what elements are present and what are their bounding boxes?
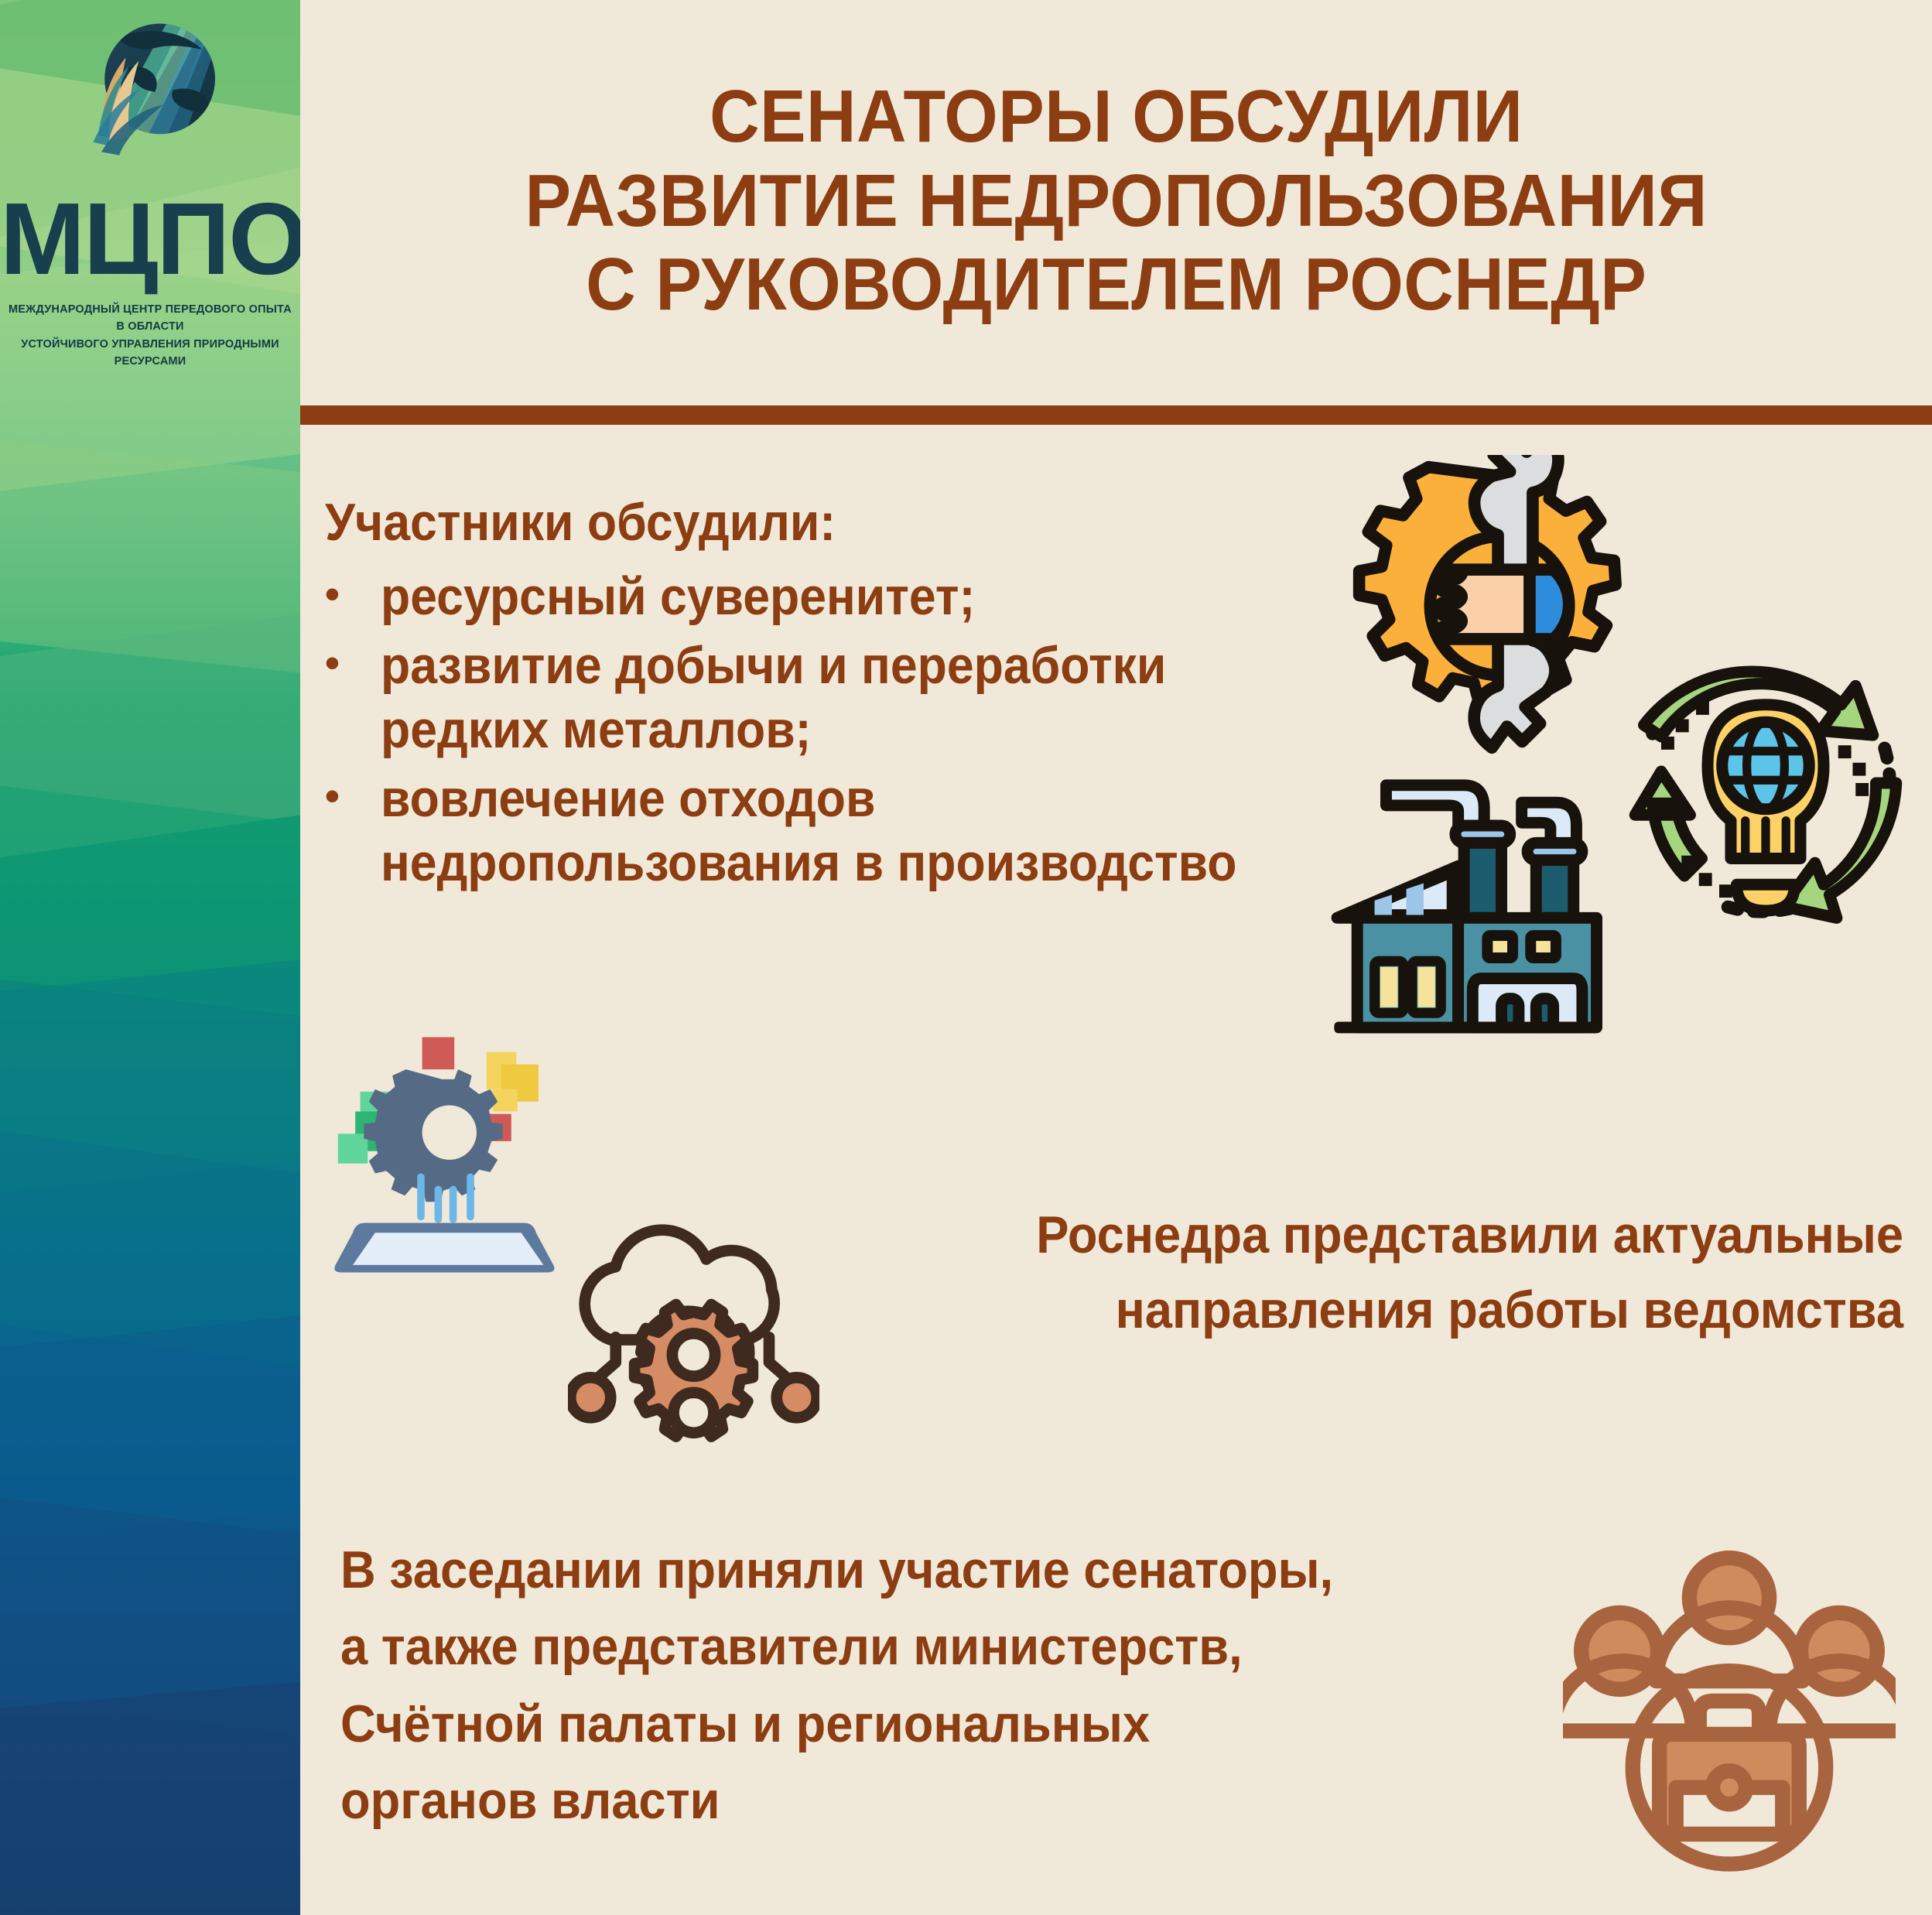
rosnedra-statement-line1: Роснедра представили актуальные (809, 1198, 1903, 1273)
list-item: • ресурсный суверенитет; (325, 565, 1339, 629)
sidebar-band (0, 1677, 300, 1915)
brand-subtitle-line1: МЕЖДУНАРОДНЫЙ ЦЕНТР ПЕРЕДОВОГО ОПЫТА В О… (6, 301, 294, 336)
brand-acronym: МЦПО (0, 188, 300, 290)
list-item: • вовлечение отходов недропользования в … (325, 767, 1339, 895)
bullet-dot-icon: • (325, 767, 381, 826)
participants-statement: В заседании приняли участие сенаторы, а … (340, 1532, 1463, 1839)
factory-icon (1317, 768, 1634, 1042)
data-gear-tablet-icon (328, 1023, 576, 1274)
list-item: • развитие добычи и переработки редких м… (325, 634, 1339, 762)
participants-line4: органов власти (340, 1763, 1463, 1839)
recycle-lightbulb-globe-icon (1619, 644, 1913, 934)
cloud-gear-network-icon (568, 1187, 819, 1442)
brand-logo: МЦПО МЕЖДУНАРОДНЫЙ ЦЕНТР ПЕРЕДОВОГО ОПЫТ… (0, 15, 300, 371)
brand-sidebar: МЦПО МЕЖДУНАРОДНЫЙ ЦЕНТР ПЕРЕДОВОГО ОПЫТ… (0, 0, 300, 1915)
participants-line1: В заседании приняли участие сенаторы, (340, 1532, 1463, 1609)
page-title-line3: С РУКОВОДИТЕЛЕМ РОСНЕДР (525, 243, 1707, 327)
brand-subtitle-line2: УСТОЙЧИВОГО УПРАВЛЕНИЯ ПРИРОДНЫМИ РЕСУРС… (6, 336, 294, 371)
page-title-line2: РАЗВИТИЕ НЕДРОПОЛЬЗОВАНИЯ (525, 159, 1707, 243)
brand-subtitle: МЕЖДУНАРОДНЫЙ ЦЕНТР ПЕРЕДОВОГО ОПЫТА В О… (0, 301, 300, 371)
bullet-dot-icon: • (325, 565, 381, 624)
participants-line2: а также представители министерств, (340, 1609, 1463, 1685)
rosnedra-statement-line2: направления работы ведомства (809, 1273, 1903, 1348)
page-title-line1: СЕНАТОРЫ ОБСУДИЛИ (525, 75, 1707, 159)
list-item-label: ресурсный суверенитет; (381, 565, 1262, 629)
globe-with-leaf-icon (69, 15, 231, 178)
header-divider (300, 405, 1932, 425)
poster-header: СЕНАТОРЫ ОБСУДИЛИ РАЗВИТИЕ НЕДРОПОЛЬЗОВА… (300, 0, 1932, 402)
participants-line3: Счётной палаты и региональных (340, 1686, 1463, 1763)
rosnedra-statement: Роснедра представили актуальные направле… (809, 1198, 1903, 1347)
bullet-dot-icon: • (325, 634, 381, 693)
page-title: СЕНАТОРЫ ОБСУДИЛИ РАЗВИТИЕ НЕДРОПОЛЬЗОВА… (496, 75, 1736, 327)
infographic-poster: МЦПО МЕЖДУНАРОДНЫЙ ЦЕНТР ПЕРЕДОВОГО ОПЫТ… (0, 0, 1932, 1915)
discussion-topics-list: • ресурсный суверенитет; • развитие добы… (325, 565, 1339, 900)
list-item-label: развитие добычи и переработки редких мет… (381, 634, 1262, 762)
list-item-label: вовлечение отходов недропользования в пр… (381, 767, 1262, 895)
people-briefcase-icon (1563, 1541, 1896, 1874)
gear-wrench-icon (1345, 455, 1654, 757)
bullets-heading: Участники обсудили: (325, 492, 836, 552)
